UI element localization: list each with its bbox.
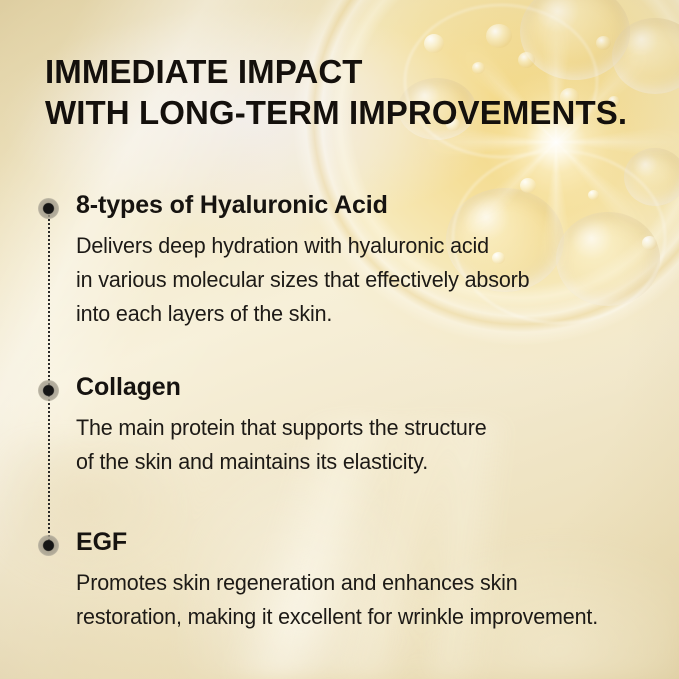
headline-line-2: WITH LONG-TERM IMPROVEMENTS. [45,93,645,134]
benefit-description-line: restoration, making it excellent for wri… [76,600,635,634]
bullet-dot-icon [38,198,59,219]
benefit-description: The main protein that supports the struc… [76,411,635,479]
bullet-dot-icon [38,535,59,556]
benefit-description-line: The main protein that supports the struc… [76,411,635,445]
benefit-description-line: Delivers deep hydration with hyaluronic … [76,229,635,263]
benefit-title: 8-types of Hyaluronic Acid [76,191,388,220]
benefit-description-line: Promotes skin regeneration and enhances … [76,566,635,600]
benefit-description-line: into each layers of the skin. [76,297,635,331]
benefit-title: Collagen [76,373,181,402]
timeline-dotted-connector [48,207,52,545]
benefit-description-line: in various molecular sizes that effectiv… [76,263,635,297]
benefit-description: Delivers deep hydration with hyaluronic … [76,229,635,332]
benefit-description: Promotes skin regeneration and enhances … [76,566,635,634]
poster-content: IMMEDIATE IMPACT WITH LONG-TERM IMPROVEM… [0,0,679,679]
headline-line-1: IMMEDIATE IMPACT [45,52,645,93]
product-benefits-poster: IMMEDIATE IMPACT WITH LONG-TERM IMPROVEM… [0,0,679,679]
benefit-description-line: of the skin and maintains its elasticity… [76,445,635,479]
headline: IMMEDIATE IMPACT WITH LONG-TERM IMPROVEM… [45,52,645,134]
benefit-title: EGF [76,528,127,557]
bullet-dot-icon [38,380,59,401]
